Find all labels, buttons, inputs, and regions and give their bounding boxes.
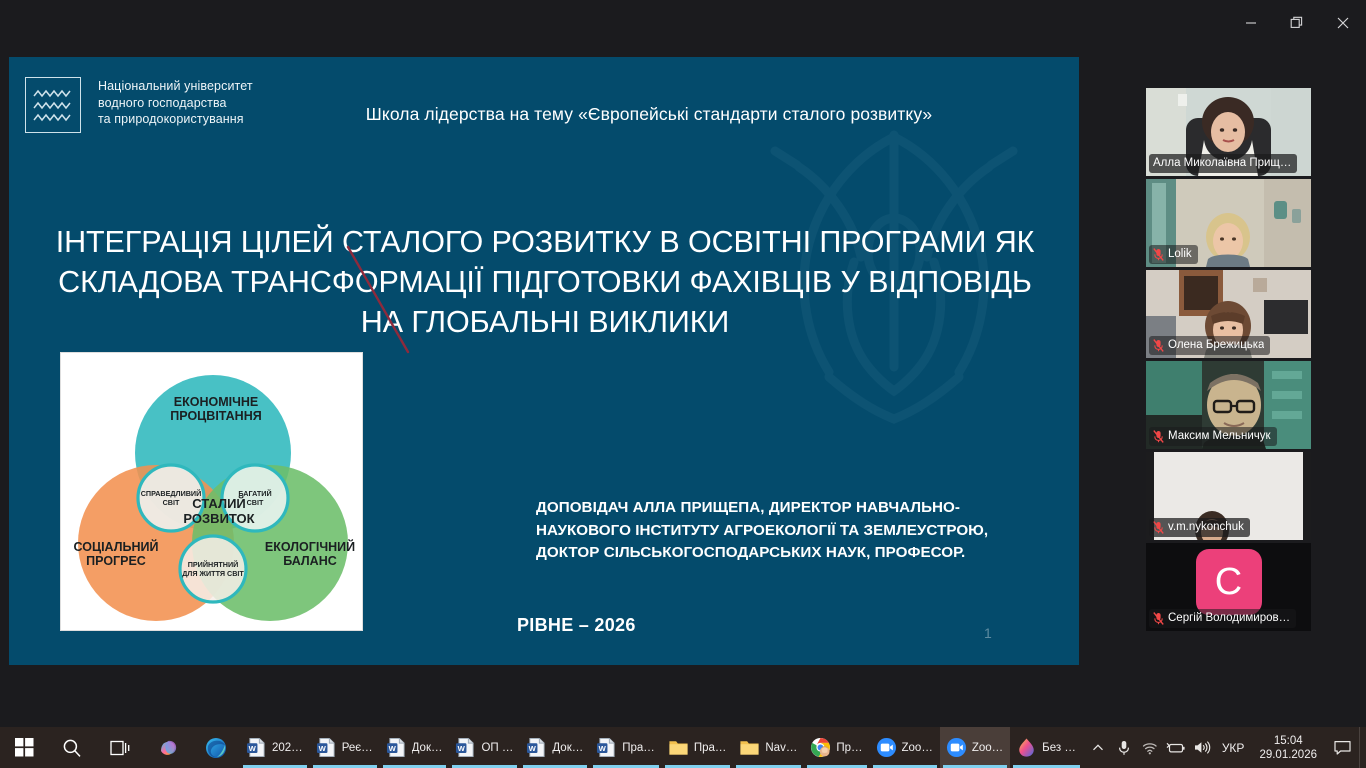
venn-label-rich-1: БАГАТИЙ: [238, 489, 271, 498]
participant-tile-1[interactable]: Lolik: [1146, 179, 1311, 267]
taskbar-app-label-4: Док…: [552, 742, 583, 754]
participant-name-2: Олена Брежицька: [1168, 337, 1264, 353]
taskbar-app-label-3: ОП …: [481, 742, 513, 754]
participant-tile-2[interactable]: Олена Брежицька: [1146, 270, 1311, 358]
taskbar-app-label-10: Zoo…: [972, 742, 1003, 754]
shared-screen-slide[interactable]: Національний університет водного господа…: [9, 57, 1079, 665]
word-icon: W: [596, 737, 617, 758]
action-center-button[interactable]: [1325, 727, 1359, 768]
svg-text:W: W: [458, 744, 466, 753]
taskbar-app-label-11: Без …: [1042, 742, 1076, 754]
participant-name-4: v.m.nykonchuk: [1168, 519, 1244, 535]
svg-text:W: W: [318, 744, 326, 753]
tray-overflow-button[interactable]: [1085, 727, 1111, 768]
venn-label-liveable-2: ДЛЯ ЖИТТЯ СВІТ: [182, 569, 244, 578]
volume-icon: [1193, 740, 1211, 755]
svg-text:W: W: [599, 744, 607, 753]
windows-icon: [15, 738, 34, 757]
notification-icon: [1334, 740, 1351, 756]
taskbar-app-label-6: Пра…: [694, 742, 727, 754]
svg-text:W: W: [529, 744, 537, 753]
slide-headline: ІНТЕГРАЦІЯ ЦІЛЕЙ СТАЛОГО РОЗВИТКУ В ОСВІ…: [45, 222, 1045, 342]
clock-date: 29.01.2026: [1259, 748, 1317, 762]
taskbar-app-label-8: Пр…: [836, 742, 862, 754]
language-indicator[interactable]: УКР: [1215, 741, 1252, 755]
search-icon: [62, 738, 82, 758]
edge-button[interactable]: [192, 727, 240, 768]
taskbar-app-label-9: Zoo…: [902, 742, 933, 754]
venn-label-economic-2: ПРОЦВІТАННЯ: [170, 409, 261, 423]
paint-icon: [1016, 737, 1037, 758]
venn-label-fair-1: СПРАВЕДЛИВИЙ: [141, 489, 202, 498]
venn-label-rich-2: СВІТ: [247, 498, 264, 507]
participant-name-chip-2: Олена Брежицька: [1149, 336, 1270, 355]
university-name: Національний університет водного господа…: [98, 77, 253, 128]
close-button[interactable]: [1320, 0, 1366, 45]
zoom-meeting-window: Національний університет водного господа…: [0, 0, 1366, 768]
taskbar-app-8[interactable]: Пр…: [804, 727, 869, 768]
taskbar-app-6[interactable]: Пра…: [662, 727, 734, 768]
taskbar-app-label-7: Nav…: [765, 742, 797, 754]
task-view-icon: [110, 739, 131, 757]
mic-muted-icon: [1153, 521, 1164, 534]
taskbar-app-label-5: Пра…: [622, 742, 655, 754]
svg-text:W: W: [249, 744, 257, 753]
task-view-button[interactable]: [96, 727, 144, 768]
mic-muted-icon: [1153, 248, 1164, 261]
place-and-year: РІВНЕ – 2026: [517, 615, 636, 636]
taskbar-app-11[interactable]: Без …: [1010, 727, 1083, 768]
university-logo: Національний університет водного господа…: [25, 77, 253, 133]
sustainable-development-venn-diagram: ЕКОНОМІЧНЕ ПРОЦВІТАННЯ СОЦІАЛЬНИЙ ПРОГРЕ…: [60, 352, 363, 631]
venn-label-liveable-1: ПРИЙНЯТНИЙ: [188, 560, 239, 569]
restore-icon: [1290, 16, 1304, 30]
restore-button[interactable]: [1274, 0, 1320, 45]
start-button[interactable]: [0, 727, 48, 768]
participant-name-3: Максим Мельничук: [1168, 428, 1271, 444]
window-title-bar: [0, 0, 1366, 45]
participant-name-chip-1: Lolik: [1149, 245, 1198, 264]
copilot-button[interactable]: [144, 727, 192, 768]
mic-muted-icon: [1153, 339, 1164, 352]
clock[interactable]: 15:04 29.01.2026: [1251, 734, 1325, 762]
battery-tray-icon-wrap[interactable]: [1163, 727, 1189, 768]
venn-label-social-2: ПРОГРЕС: [86, 554, 146, 568]
participant-name-chip-5: Сергій Володимиров…: [1149, 609, 1296, 628]
taskbar-app-label-1: Реє…: [342, 742, 373, 754]
taskbar-app-7[interactable]: Nav…: [733, 727, 804, 768]
venn-label-economic-1: ЕКОНОМІЧНЕ: [174, 395, 258, 409]
taskbar-app-1[interactable]: WРеє…: [310, 727, 380, 768]
word-icon: W: [246, 737, 267, 758]
taskbar-app-3[interactable]: WОП …: [449, 727, 520, 768]
windows-taskbar[interactable]: W202…WРеє…WДок…WОП …WДок…WПра…Пра…Nav…Пр…: [0, 727, 1366, 768]
taskbar-app-5[interactable]: WПра…: [590, 727, 662, 768]
taskbar-app-2[interactable]: WДок…: [380, 727, 450, 768]
wifi-tray-icon-wrap[interactable]: [1137, 727, 1163, 768]
zoom-icon: [946, 737, 967, 758]
zoom-icon: [876, 737, 897, 758]
event-title: Школа лідерства на тему «Європейські ста…: [329, 101, 969, 128]
presenter-credit: ДОПОВІДАЧ АЛЛА ПРИЩЕПА, ДИРЕКТОР НАВЧАЛЬ…: [536, 497, 1036, 565]
volume-tray-icon-wrap[interactable]: [1189, 727, 1215, 768]
chrome-icon: [810, 737, 831, 758]
close-icon: [1336, 16, 1350, 30]
participant-name-0: Алла Миколаївна Прищ…: [1153, 155, 1291, 171]
clock-time: 15:04: [1259, 734, 1317, 748]
wave-line-3: [33, 113, 73, 122]
wifi-icon: [1142, 741, 1158, 755]
participant-tile-4[interactable]: v.m.nykonchuk: [1146, 452, 1311, 540]
word-icon: W: [386, 737, 407, 758]
wave-line-2: [33, 101, 73, 110]
minimize-button[interactable]: [1228, 0, 1274, 45]
wave-lines-logo-icon: [25, 77, 81, 133]
wave-line-1: [33, 89, 73, 98]
venn-label-fair-2: СВІТ: [163, 498, 180, 507]
venn-label-center-2: РОЗВИТОК: [183, 511, 254, 526]
participant-name-5: Сергій Володимиров…: [1168, 610, 1290, 626]
edge-icon: [205, 737, 227, 759]
system-tray[interactable]: УКР 15:04 29.01.2026: [1085, 727, 1366, 768]
chevron-up-icon: [1092, 742, 1104, 754]
taskbar-app-9[interactable]: Zoo…: [870, 727, 940, 768]
microphone-tray-icon-wrap[interactable]: [1111, 727, 1137, 768]
participant-filmstrip[interactable]: Алла Миколаївна Прищ…: [1146, 88, 1311, 633]
venn-label-ecologic-1: ЕКОЛОГІЧНИЙ: [265, 539, 355, 554]
mic-muted-icon: [1153, 612, 1164, 625]
minimize-icon: [1245, 17, 1257, 29]
folder-icon: [668, 737, 689, 758]
search-button[interactable]: [48, 727, 96, 768]
participant-name-1: Lolik: [1168, 246, 1192, 262]
taskbar-app-label-2: Док…: [412, 742, 443, 754]
slide-number: 1: [984, 625, 992, 641]
word-icon: W: [526, 737, 547, 758]
participant-tile-0[interactable]: Алла Миколаївна Прищ…: [1146, 88, 1311, 176]
participant-name-chip-3: Максим Мельничук: [1149, 427, 1277, 446]
participant-name-chip-0: Алла Миколаївна Прищ…: [1149, 154, 1297, 173]
svg-text:W: W: [388, 744, 396, 753]
folder-icon: [739, 737, 760, 758]
taskbar-app-10[interactable]: Zoo…: [940, 727, 1010, 768]
word-icon: W: [316, 737, 337, 758]
microphone-icon: [1117, 740, 1131, 756]
venn-label-social-1: СОЦІАЛЬНИЙ: [74, 539, 159, 554]
avatar: C: [1196, 549, 1262, 615]
mic-muted-icon: [1153, 430, 1164, 443]
participant-tile-5[interactable]: C Сергій Володимиров…: [1146, 543, 1311, 631]
participant-name-chip-4: v.m.nykonchuk: [1149, 518, 1250, 537]
venn-label-ecologic-2: БАЛАНС: [283, 554, 337, 568]
word-icon: W: [455, 737, 476, 758]
copilot-icon: [157, 737, 179, 759]
venn-svg: ЕКОНОМІЧНЕ ПРОЦВІТАННЯ СОЦІАЛЬНИЙ ПРОГРЕ…: [61, 353, 363, 631]
show-desktop-button[interactable]: [1359, 727, 1366, 768]
battery-icon: [1166, 741, 1186, 755]
taskbar-app-4[interactable]: WДок…: [520, 727, 590, 768]
participant-tile-3[interactable]: Максим Мельничук: [1146, 361, 1311, 449]
venn-label-center-1: СТАЛИЙ: [192, 496, 246, 511]
taskbar-app-0[interactable]: W202…: [240, 727, 310, 768]
taskbar-app-label-0: 202…: [272, 742, 303, 754]
taskbar-app-list[interactable]: W202…WРеє…WДок…WОП …WДок…WПра…Пра…Nav…Пр…: [240, 727, 1083, 768]
